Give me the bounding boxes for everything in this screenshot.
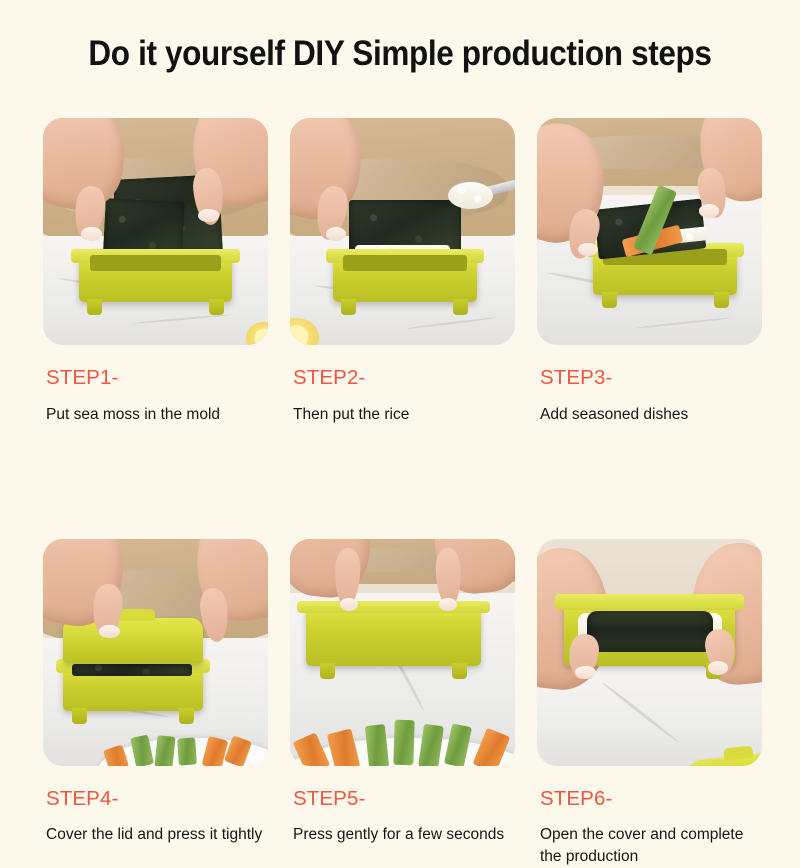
- lid-tab: [723, 746, 754, 761]
- mold-lid-flat: [297, 601, 490, 613]
- step-description-1: Put sea moss in the mold: [46, 404, 264, 426]
- step-label-1: STEP1-: [46, 368, 268, 389]
- step-caption-5: STEP5- Press gently for a few seconds: [290, 789, 515, 847]
- step-caption-1: STEP1- Put sea moss in the mold: [43, 368, 268, 426]
- step-card-3: STEP3- Add seasoned dishes: [537, 118, 762, 426]
- step-description-6: Open the cover and complete the producti…: [540, 824, 758, 868]
- mold-foot: [453, 299, 468, 315]
- mold-foot: [72, 708, 87, 724]
- mold-foot: [179, 708, 194, 724]
- step-photo-5[interactable]: [290, 539, 515, 766]
- mold-cavity: [343, 255, 467, 271]
- mold-rim: [555, 594, 743, 610]
- step-card-1: STEP1- Put sea moss in the mold: [43, 118, 268, 426]
- sushi-mold: [333, 256, 477, 301]
- step-photo-4[interactable]: [43, 539, 268, 766]
- scene-adding-rice: [290, 118, 515, 345]
- step-caption-2: STEP2- Then put the rice: [290, 368, 515, 426]
- step-card-4: STEP4- Cover the lid and press it tightl…: [43, 539, 268, 868]
- steps-row-bottom: STEP4- Cover the lid and press it tightl…: [43, 539, 760, 868]
- fingernail: [439, 598, 457, 612]
- step-label-4: STEP4-: [46, 789, 268, 810]
- scene-adding-vegetables: [537, 118, 762, 345]
- step-photo-6[interactable]: [537, 539, 762, 766]
- sushi-mold-closed: [306, 607, 482, 666]
- scene-finished-roll: [537, 539, 762, 766]
- mold-foot: [209, 299, 224, 315]
- step-caption-6: STEP6- Open the cover and complete the p…: [537, 789, 762, 868]
- mold-foot: [320, 663, 335, 679]
- step-description-4: Cover the lid and press it tightly: [46, 824, 264, 846]
- fingernail: [708, 661, 728, 675]
- nori-in-mold: [72, 664, 192, 676]
- step-description-2: Then put the rice: [293, 404, 511, 426]
- step-label-6: STEP6-: [540, 789, 762, 810]
- mold-foot: [452, 663, 467, 679]
- step-card-6: STEP6- Open the cover and complete the p…: [537, 539, 762, 868]
- fingernail: [340, 598, 358, 612]
- step-photo-2[interactable]: [290, 118, 515, 345]
- sushi-mold: [79, 256, 232, 301]
- step-description-3: Add seasoned dishes: [540, 404, 758, 426]
- mold-foot: [714, 292, 729, 308]
- scene-closing-lid: [43, 539, 268, 766]
- mold-foot: [341, 299, 356, 315]
- scene-nori-into-mold: [43, 118, 268, 345]
- step-photo-1[interactable]: [43, 118, 268, 345]
- step-label-2: STEP2-: [293, 368, 515, 389]
- fingernail: [575, 666, 595, 680]
- step-description-5: Press gently for a few seconds: [293, 824, 511, 846]
- cucumber-stick: [154, 735, 175, 765]
- steps-grid: STEP1- Put sea moss in the mold: [43, 118, 760, 868]
- step-caption-4: STEP4- Cover the lid and press it tightl…: [43, 789, 268, 847]
- fingernail: [699, 204, 719, 218]
- mold-foot: [87, 299, 102, 315]
- steps-row-top: STEP1- Put sea moss in the mold: [43, 118, 760, 426]
- step-label-5: STEP5-: [293, 789, 515, 810]
- sushi-roll: [587, 611, 713, 652]
- fingernail: [81, 227, 101, 241]
- step-photo-3[interactable]: [537, 118, 762, 345]
- rice-on-spoon: [448, 182, 493, 209]
- step-caption-3: STEP3- Add seasoned dishes: [537, 368, 762, 426]
- step-card-2: STEP2- Then put the rice: [290, 118, 515, 426]
- fingernail: [99, 625, 119, 639]
- infographic-page: Do it yourself DIY Simple production ste…: [0, 0, 800, 800]
- cucumber-stick: [364, 724, 389, 766]
- cucumber-stick: [393, 720, 415, 766]
- scene-pressing-lid: [290, 539, 515, 766]
- fingernail: [198, 209, 218, 223]
- cucumber-stick: [177, 738, 197, 766]
- sushi-mold: [63, 666, 203, 711]
- mold-foot: [602, 292, 617, 308]
- fingernail: [326, 227, 346, 241]
- step-card-5: STEP5- Press gently for a few seconds: [290, 539, 515, 868]
- step-label-3: STEP3-: [540, 368, 762, 389]
- mold-cavity: [90, 255, 222, 271]
- page-title: Do it yourself DIY Simple production ste…: [40, 34, 760, 74]
